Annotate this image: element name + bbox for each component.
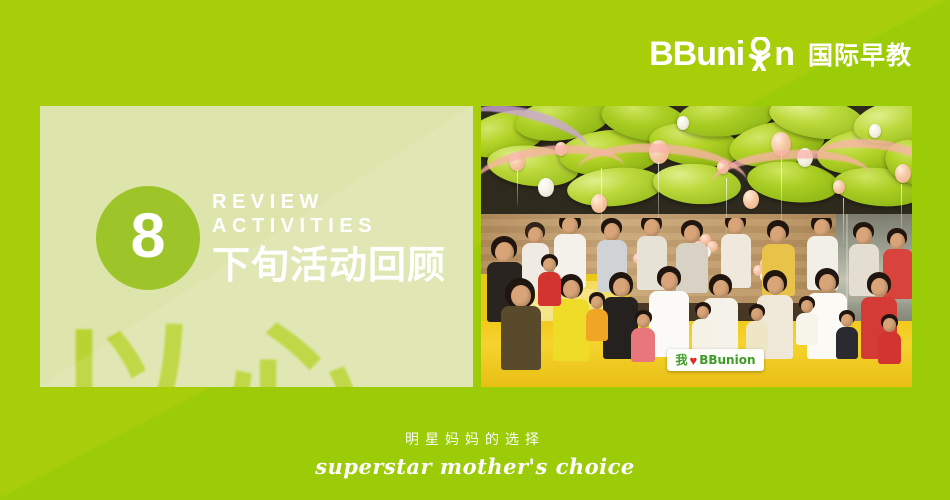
- event-photo: 我 ♥ BBunion: [481, 106, 912, 387]
- logo-chinese-label: 国际早教: [808, 36, 912, 72]
- brand-logo: BBunin 国际早教: [649, 33, 912, 75]
- issue-badge: 8: [96, 186, 200, 290]
- footer-tagline: 明星妈妈的选择 superstar mother's choice: [0, 430, 950, 482]
- watermark-text: 以心: [54, 325, 473, 387]
- person-raising-arms-icon: [744, 37, 774, 71]
- title-en-line2: ACTIVITIES: [212, 214, 446, 238]
- logo-wordmark: BBunin: [649, 37, 794, 71]
- issue-number: 8: [130, 205, 165, 268]
- crowd-of-families: 我 ♥ BBunion: [481, 218, 912, 387]
- heart-icon: ♥: [690, 354, 698, 367]
- title-en-line1: REVIEW: [212, 190, 446, 214]
- sign-text-right: BBunion: [699, 354, 755, 366]
- title-cn: 下旬活动回顾: [212, 242, 446, 288]
- tagline-english: superstar mother's choice: [0, 452, 950, 482]
- sign-text-left: 我: [675, 354, 687, 366]
- logo-wordmark-pre: BBuni: [649, 35, 744, 73]
- title-block: REVIEW ACTIVITIES 下旬活动回顾: [212, 190, 446, 288]
- bbunion-sign: 我 ♥ BBunion: [667, 349, 764, 371]
- title-card: 以心 8 REVIEW ACTIVITIES 下旬活动回顾: [40, 106, 473, 387]
- poster-canvas: BBunin 国际早教 以心 8 REVIEW ACTIVITIES 下旬活动回…: [0, 0, 950, 500]
- tagline-chinese: 明星妈妈的选择: [0, 430, 950, 450]
- logo-wordmark-post: n: [774, 35, 794, 73]
- photo-scene: 我 ♥ BBunion: [481, 106, 912, 387]
